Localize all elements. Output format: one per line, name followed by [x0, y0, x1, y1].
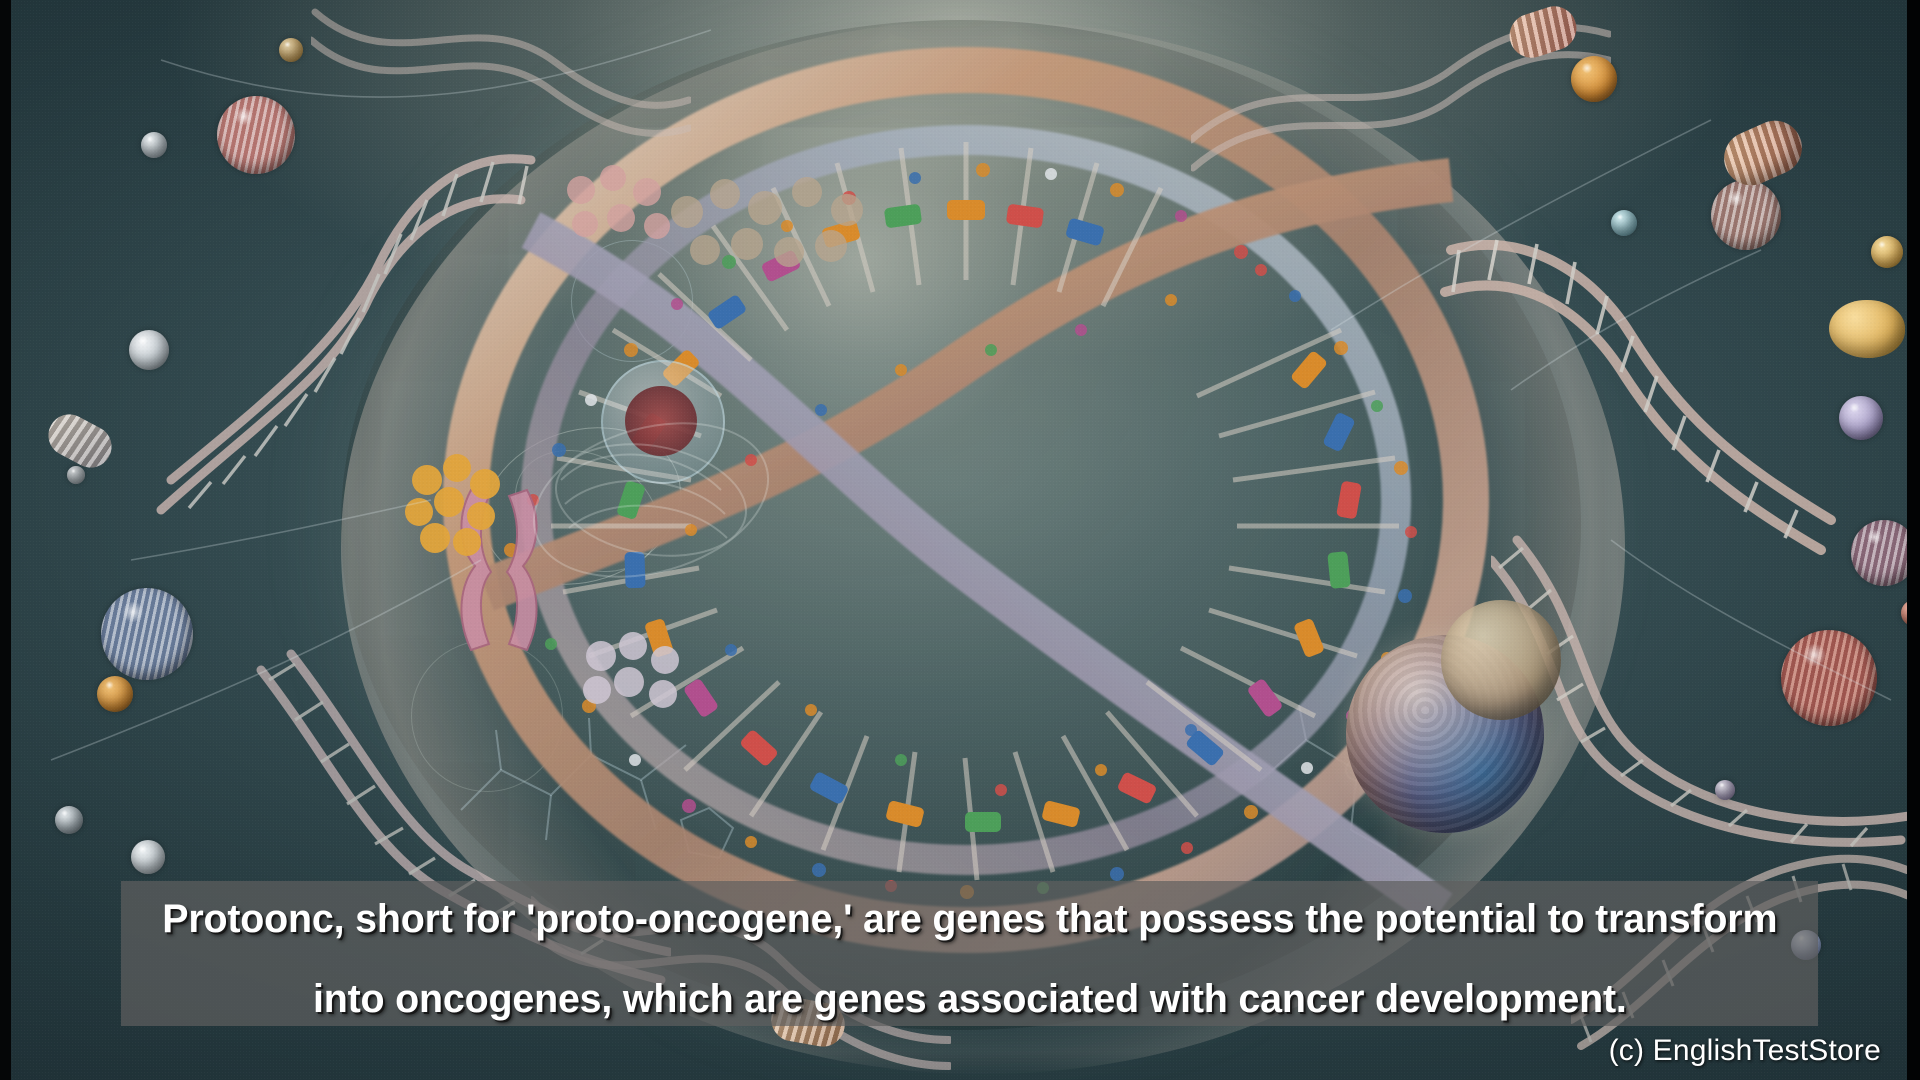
cell-sphere [341, 20, 1581, 1030]
organelle-striped-capsule-top [1504, 1, 1582, 64]
orb-teal-right [1611, 210, 1637, 236]
organelle-striped-capsule-left [41, 407, 119, 475]
orb-orange-top [1571, 56, 1617, 102]
orb-small-top-left [141, 132, 167, 158]
illustration-scene: Protoonc, short for 'proto-oncogene,' ar… [11, 0, 1907, 1080]
letterbox-bar-right [1907, 0, 1920, 1080]
orb-pale-left [129, 330, 169, 370]
vesicle-icon [601, 360, 725, 484]
orb-orange-left [97, 676, 133, 712]
orb-pale-bottom-left [131, 840, 165, 874]
orb-striped-red-right [1781, 630, 1877, 726]
organelle-yellow-lobed [1829, 300, 1905, 358]
orb-gray-left-low [55, 806, 83, 834]
subtitle-caption-bar: Protoonc, short for 'proto-oncogene,' ar… [121, 881, 1818, 1026]
orb-striped-right-mid [1711, 180, 1781, 250]
nucleus-companion-sphere [1441, 600, 1561, 720]
letterbox-bar-left [0, 0, 11, 1080]
orb-yellow-right [1871, 236, 1903, 268]
orb-mini-right [1715, 780, 1735, 800]
orb-small-top-mid [279, 38, 303, 62]
orb-violet-right [1839, 396, 1883, 440]
orb-striped-pink-topleft [217, 96, 295, 174]
orb-mini-left [67, 466, 85, 484]
caption-line-1: Protoonc, short for 'proto-oncogene,' ar… [162, 899, 1777, 939]
orb-striped-blue-left [101, 588, 193, 680]
watermark-text: (c) EnglishTestStore [1609, 1034, 1881, 1068]
caption-line-2: into oncogenes, which are genes associat… [313, 979, 1627, 1019]
orb-striped-right-low [1851, 520, 1907, 586]
screenshot-canvas: Protoonc, short for 'proto-oncogene,' ar… [0, 0, 1920, 1080]
organelle-orange-capsule [1715, 112, 1810, 194]
